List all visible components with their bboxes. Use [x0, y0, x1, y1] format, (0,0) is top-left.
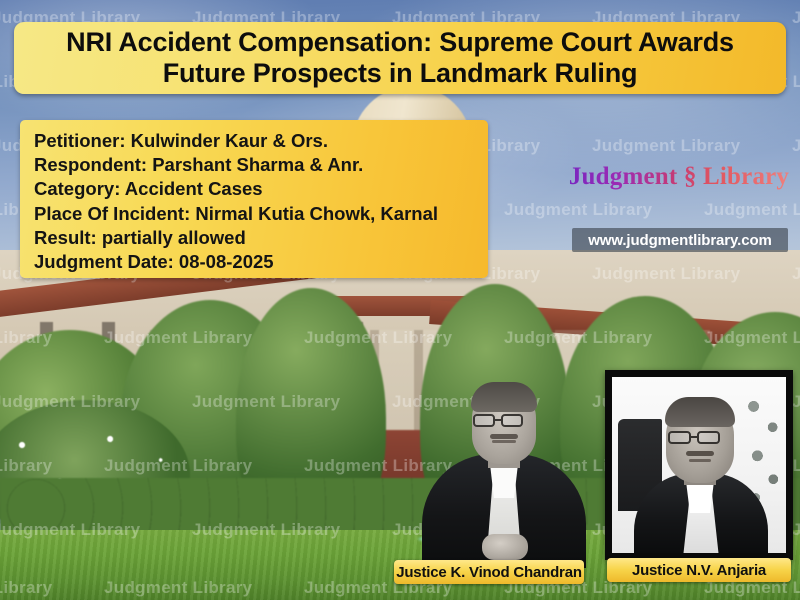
- title-banner: NRI Accident Compensation: Supreme Court…: [14, 22, 786, 94]
- judgment-poster: Judgment LibraryJudgment LibraryJudgment…: [0, 0, 800, 600]
- judge-eyeglass-right: [697, 431, 720, 444]
- judge-nameplate-nv-anjaria: Justice N.V. Anjaria: [607, 558, 791, 582]
- detail-category: Category: Accident Cases: [34, 177, 488, 201]
- detail-result: Result: partially allowed: [34, 226, 488, 250]
- brand-logo: Judgment § Library: [565, 163, 793, 195]
- title-line-1: NRI Accident Compensation: Supreme Court…: [66, 27, 734, 57]
- judge-hair: [665, 397, 735, 427]
- judge-eyeglass-right: [501, 414, 523, 427]
- detail-judgment-date: Judgment Date: 08-08-2025: [34, 250, 488, 274]
- judge-eyeglass-left: [668, 431, 691, 444]
- judge-bands: [490, 464, 518, 498]
- judge-hair: [471, 382, 537, 412]
- detail-petitioner: Petitioner: Kulwinder Kaur & Ors.: [34, 129, 488, 153]
- judge-eyeglass-bridge: [495, 419, 501, 421]
- judge-moustache: [686, 451, 714, 456]
- title-line-2: Future Prospects in Landmark Ruling: [163, 58, 638, 88]
- judge-moustache: [490, 434, 518, 439]
- judge-photo-inner: [612, 377, 786, 553]
- judge-nameplate-vinod-chandran: Justice K. Vinod Chandran: [394, 560, 584, 584]
- brand-logo-text: Judgment § Library: [569, 163, 789, 190]
- website-url-text: www.judgmentlibrary.com: [588, 232, 772, 249]
- judge-eyeglass-left: [473, 414, 495, 427]
- judge-hands: [482, 534, 528, 560]
- judge-mouth: [689, 459, 711, 462]
- judge-eyeglass-bridge: [691, 436, 697, 438]
- judge-mouth: [492, 440, 516, 443]
- judge-photo-vinod-chandran: [416, 368, 592, 568]
- website-url-bar[interactable]: www.judgmentlibrary.com: [572, 228, 788, 252]
- detail-place-of-incident: Place Of Incident: Nirmal Kutia Chowk, K…: [34, 202, 488, 226]
- judge-bands: [686, 481, 714, 513]
- page-title: NRI Accident Compensation: Supreme Court…: [56, 27, 744, 89]
- case-details-panel: Petitioner: Kulwinder Kaur & Ors. Respon…: [20, 120, 488, 278]
- judge-name-label: Justice N.V. Anjaria: [632, 562, 766, 579]
- judge-photo-nv-anjaria: [605, 370, 793, 560]
- detail-respondent: Respondent: Parshant Sharma & Anr.: [34, 153, 488, 177]
- judge-name-label: Justice K. Vinod Chandran: [396, 564, 582, 581]
